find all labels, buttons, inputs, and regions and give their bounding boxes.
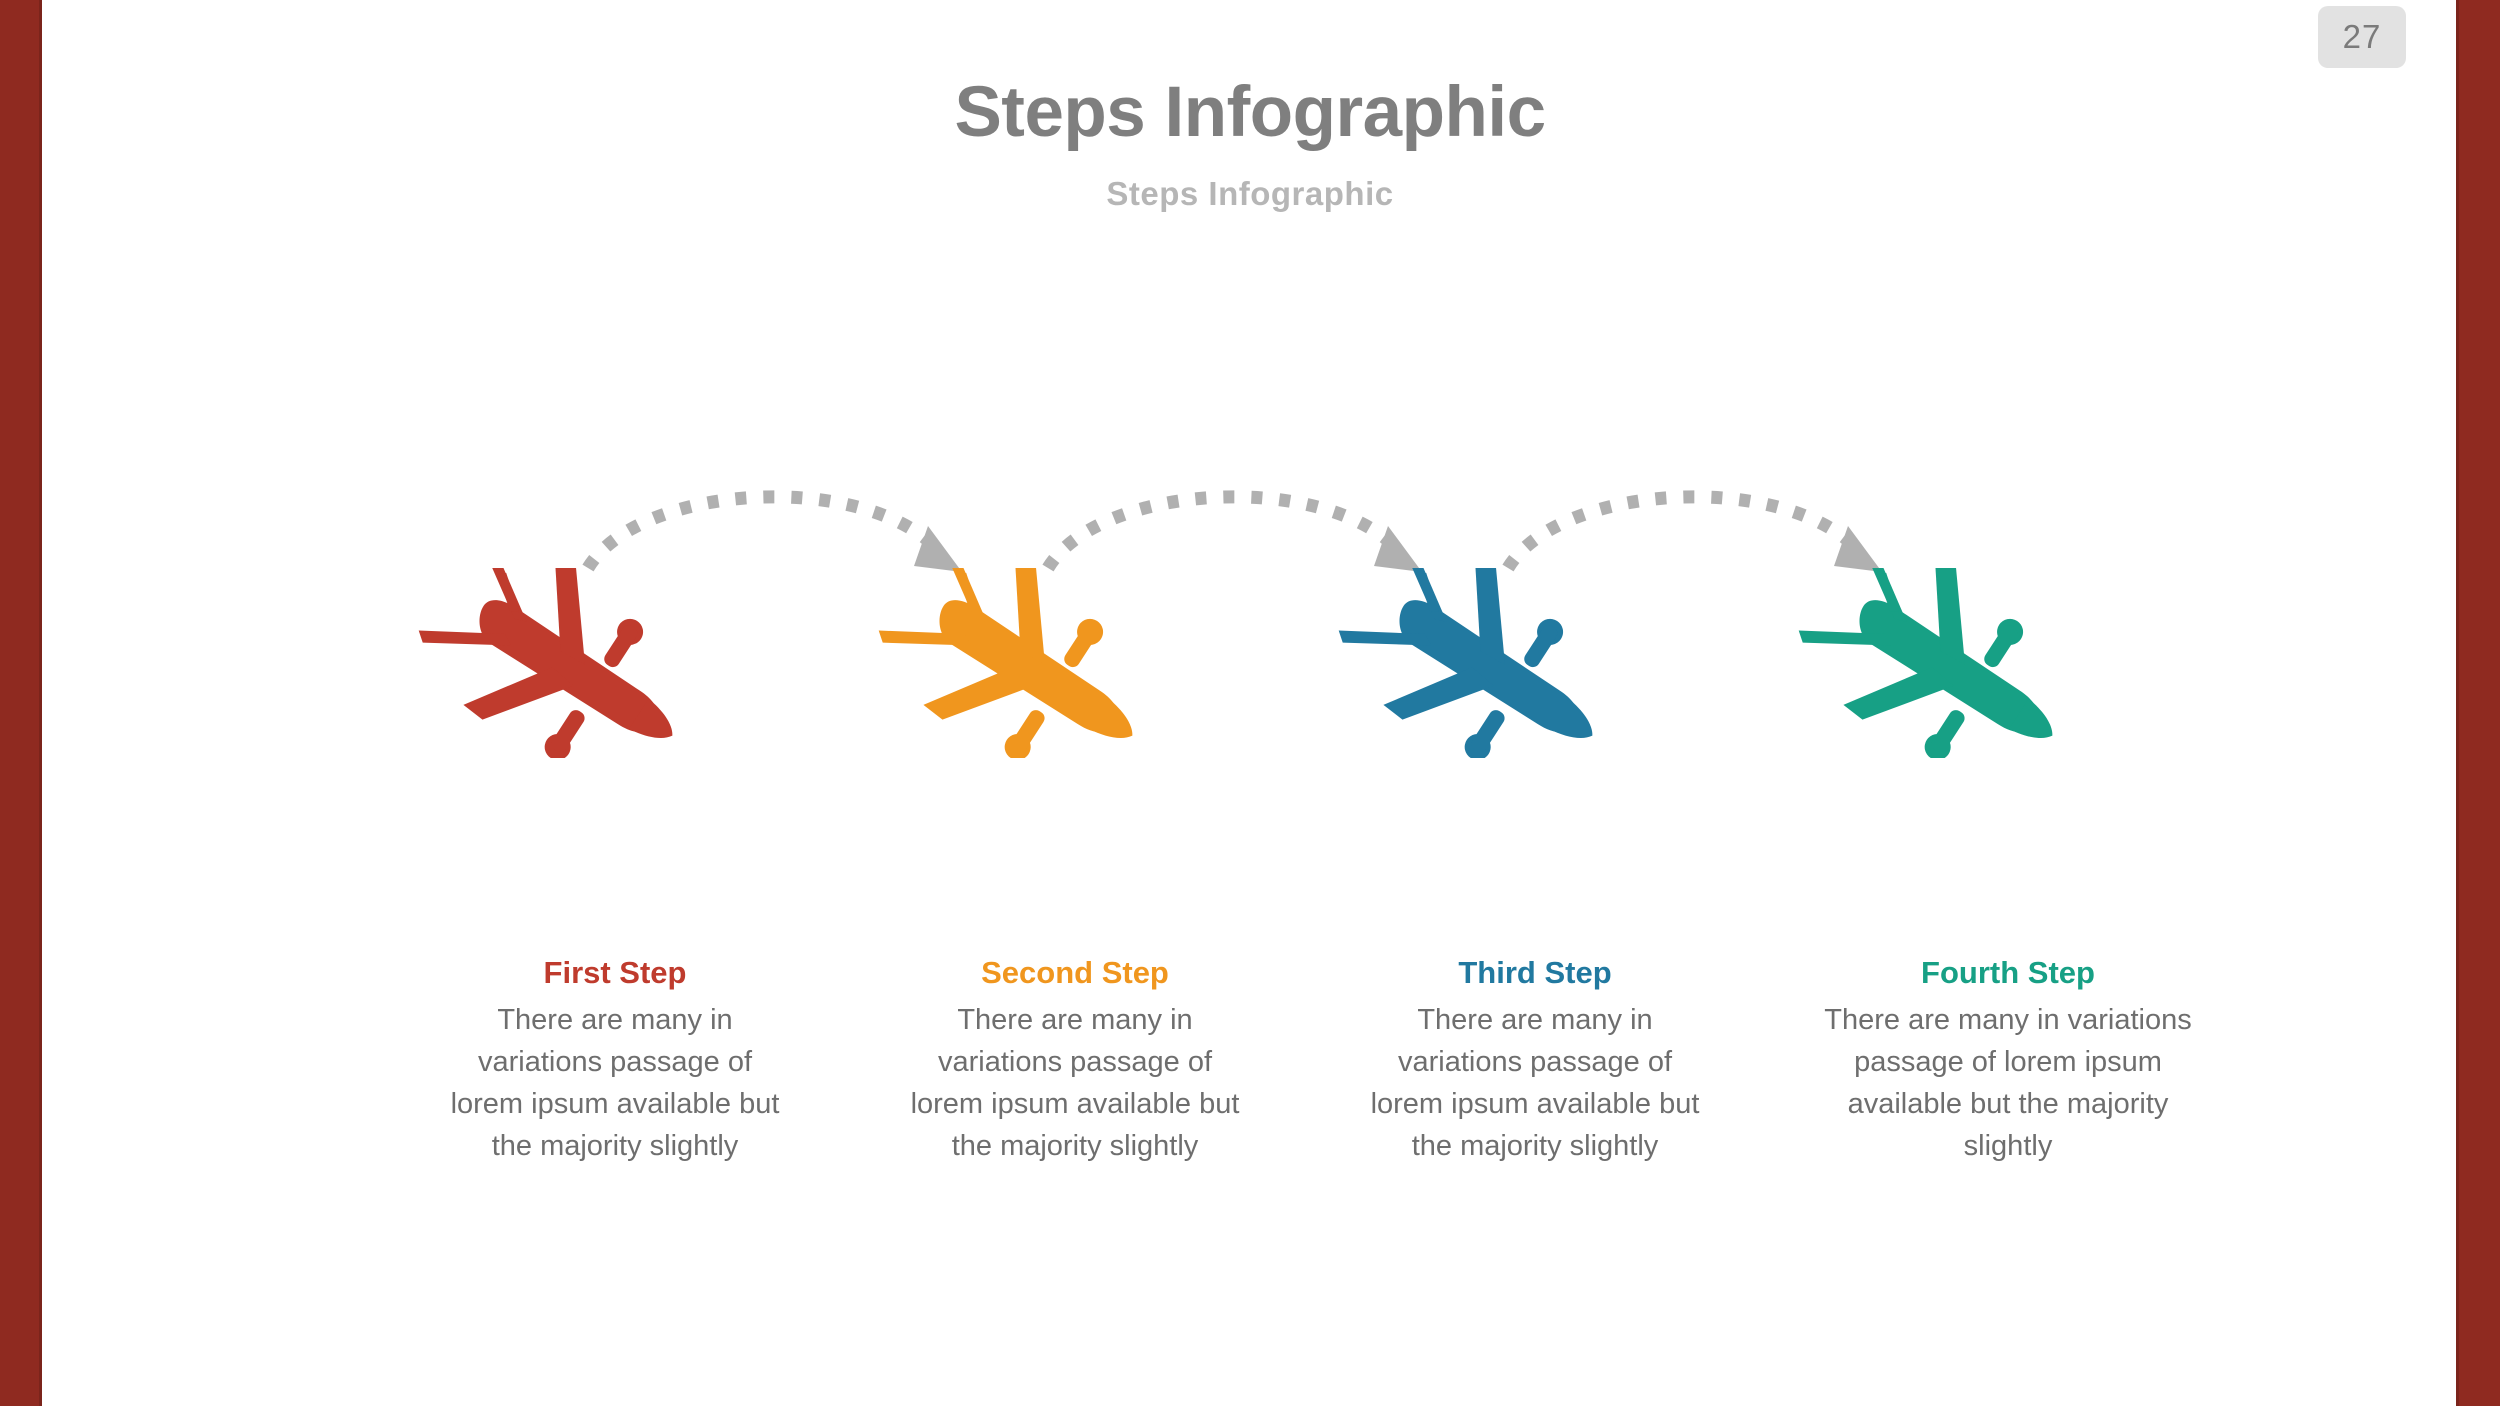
page-subtitle: Steps Infographic (0, 175, 2500, 213)
page-number-badge[interactable]: 27 (2318, 6, 2406, 68)
step-title-3: Third Step (1360, 955, 1710, 991)
step-title-4: Fourth Step (1808, 955, 2208, 991)
step-title-1: First Step (440, 955, 790, 991)
page-title: Steps Infographic (0, 72, 2500, 153)
caption-row: First Step There are many in variations … (330, 955, 2210, 1255)
step-body-2: There are many in variations passage of … (900, 999, 1250, 1167)
airplane-icon-step-4 (1785, 568, 2085, 758)
step-caption-3: Third Step There are many in variations … (1360, 955, 1710, 1167)
icon-row (330, 460, 2210, 790)
step-body-3: There are many in variations passage of … (1360, 999, 1710, 1167)
step-caption-2: Second Step There are many in variations… (900, 955, 1250, 1167)
airplane-icon-step-2 (865, 568, 1165, 758)
step-body-4: There are many in variations passage of … (1808, 999, 2208, 1167)
step-caption-4: Fourth Step There are many in variations… (1808, 955, 2208, 1167)
airplane-icon-step-3 (1325, 568, 1625, 758)
step-title-2: Second Step (900, 955, 1250, 991)
slide-canvas: 27 Steps Infographic Steps Infographic (0, 0, 2500, 1406)
step-body-1: There are many in variations passage of … (440, 999, 790, 1167)
airplane-icon-step-1 (405, 568, 705, 758)
step-caption-1: First Step There are many in variations … (440, 955, 790, 1167)
